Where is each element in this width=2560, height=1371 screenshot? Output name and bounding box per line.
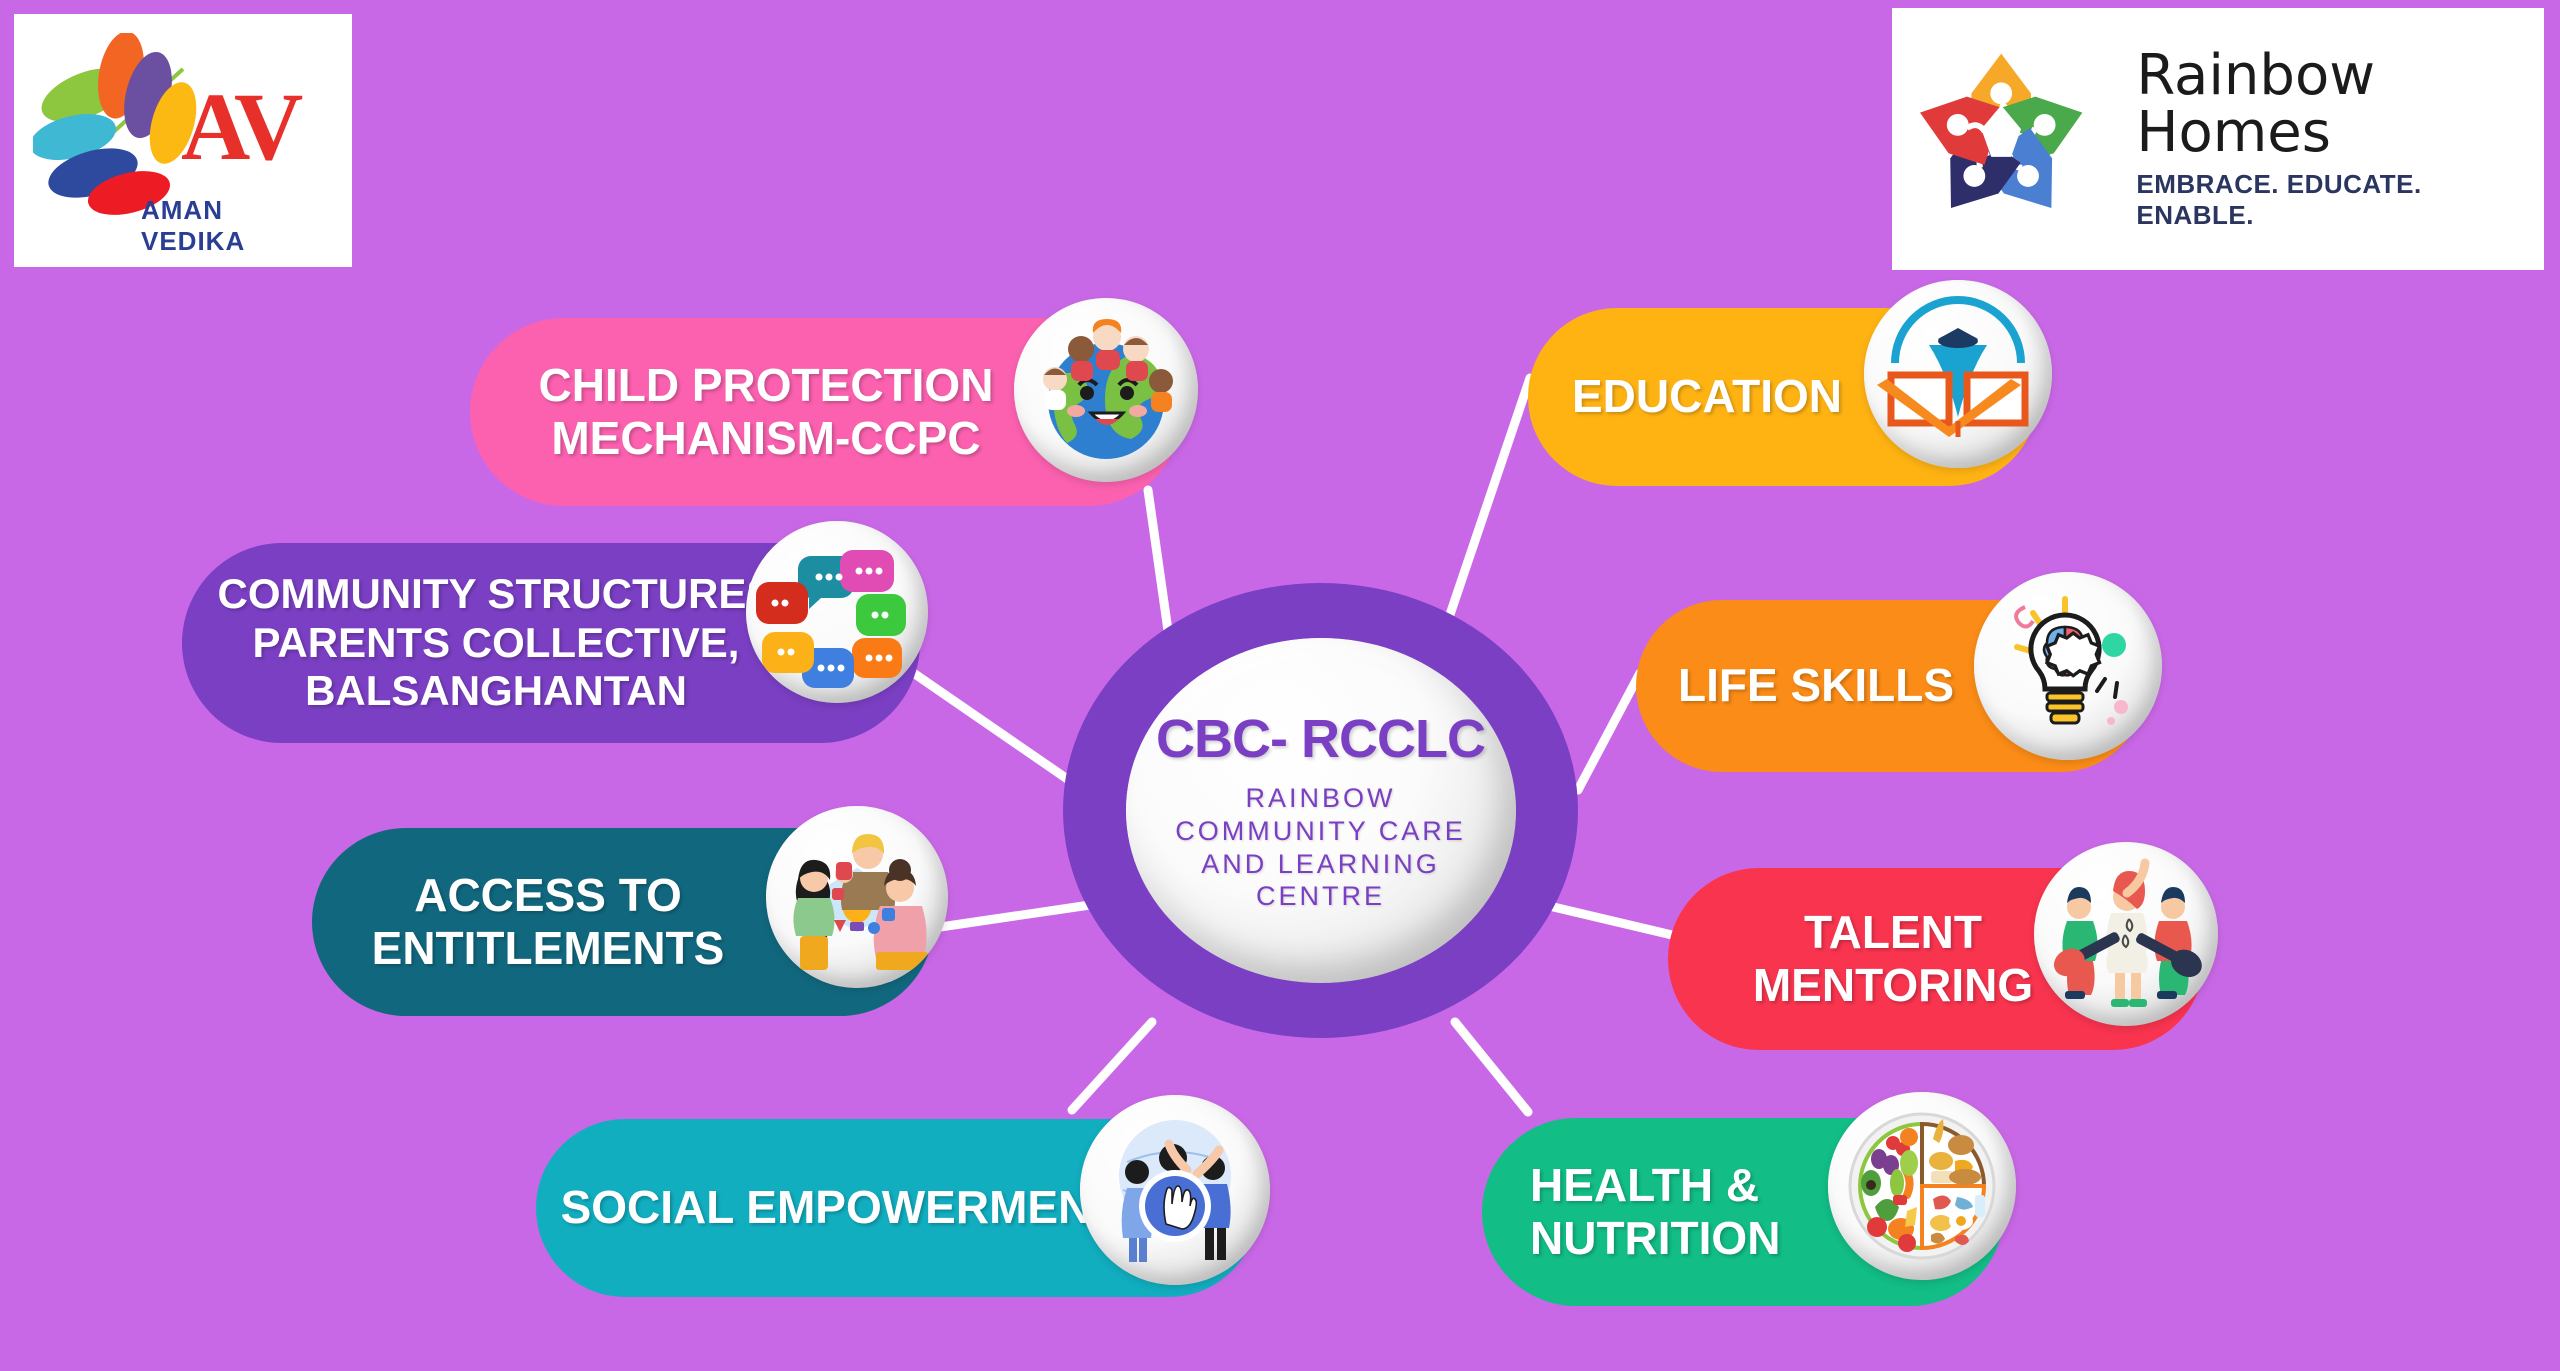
connector-health (1455, 1022, 1528, 1112)
node-access-to-entitlements[interactable]: ACCESS TO ENTITLEMENTS (312, 828, 934, 1016)
rainbow-homes-logo: Rainbow Homes EMBRACE. EDUCATE. ENABLE. (1892, 8, 2544, 270)
speech-bubbles-icon (746, 521, 928, 703)
connector-talent (1545, 905, 1672, 935)
rainbow-homes-name-line1: Rainbow (2136, 47, 2375, 104)
node-health-nutrition[interactable]: HEALTH & NUTRITION (1482, 1118, 2004, 1306)
node-community-structures-label: COMMUNITY STRUCTURES PARENTS COLLECTIVE,… (206, 570, 786, 716)
node-community-structures[interactable]: COMMUNITY STRUCTURES PARENTS COLLECTIVE,… (182, 543, 920, 743)
node-child-protection[interactable]: CHILD PROTECTION MECHANISM-CCPC (470, 318, 1182, 506)
brain-bulb-icon (1974, 572, 2162, 760)
node-social-empowerment-label: SOCIAL EMPOWERMENT (560, 1181, 1120, 1234)
connector-lifeskills (1578, 673, 1640, 790)
people-star-icon (1892, 39, 2110, 239)
graduate-book-icon (1864, 280, 2052, 468)
node-education-label: EDUCATION (1572, 370, 1872, 423)
node-life-skills[interactable]: LIFE SKILLS (1636, 600, 2146, 772)
children-globe-icon (1014, 298, 1198, 482)
node-access-to-entitlements-label: ACCESS TO ENTITLEMENTS (348, 869, 748, 976)
center-hub-title: CBC- RCCLC (1156, 708, 1485, 770)
connector-social (1072, 1022, 1152, 1110)
node-life-skills-label: LIFE SKILLS (1678, 659, 1978, 712)
aman-vedika-name: AMAN VEDIKA (141, 195, 333, 257)
node-social-empowerment[interactable]: SOCIAL EMPOWERMENT (536, 1119, 1258, 1297)
node-education[interactable]: EDUCATION (1528, 308, 2038, 486)
infographic-canvas: AV AMAN VEDIKA (0, 0, 2560, 1371)
node-child-protection-label: CHILD PROTECTION MECHANISM-CCPC (526, 359, 1006, 466)
performers-icon (2034, 842, 2218, 1026)
center-hub-sphere: CBC- RCCLC RAINBOW COMMUNITY CARE AND LE… (1126, 638, 1516, 983)
center-hub-subtitle: RAINBOW COMMUNITY CARE AND LEARNING CENT… (1175, 782, 1466, 914)
node-health-nutrition-label: HEALTH & NUTRITION (1530, 1159, 1860, 1266)
av-monogram: AV (181, 71, 299, 182)
food-plate-icon (1828, 1092, 2016, 1280)
raised-hand-icon (1080, 1095, 1270, 1285)
node-talent-mentoring[interactable]: TALENT MENTORING (1668, 868, 2204, 1050)
node-talent-mentoring-label: TALENT MENTORING (1728, 906, 2058, 1013)
rainbow-homes-name-line2: Homes (2136, 104, 2331, 161)
aman-vedika-logo: AV AMAN VEDIKA (14, 14, 352, 267)
center-hub: CBC- RCCLC RAINBOW COMMUNITY CARE AND LE… (1063, 583, 1578, 1038)
rainbow-homes-tagline: EMBRACE. EDUCATE. ENABLE. (2136, 169, 2544, 231)
people-ideas-icon (766, 806, 948, 988)
